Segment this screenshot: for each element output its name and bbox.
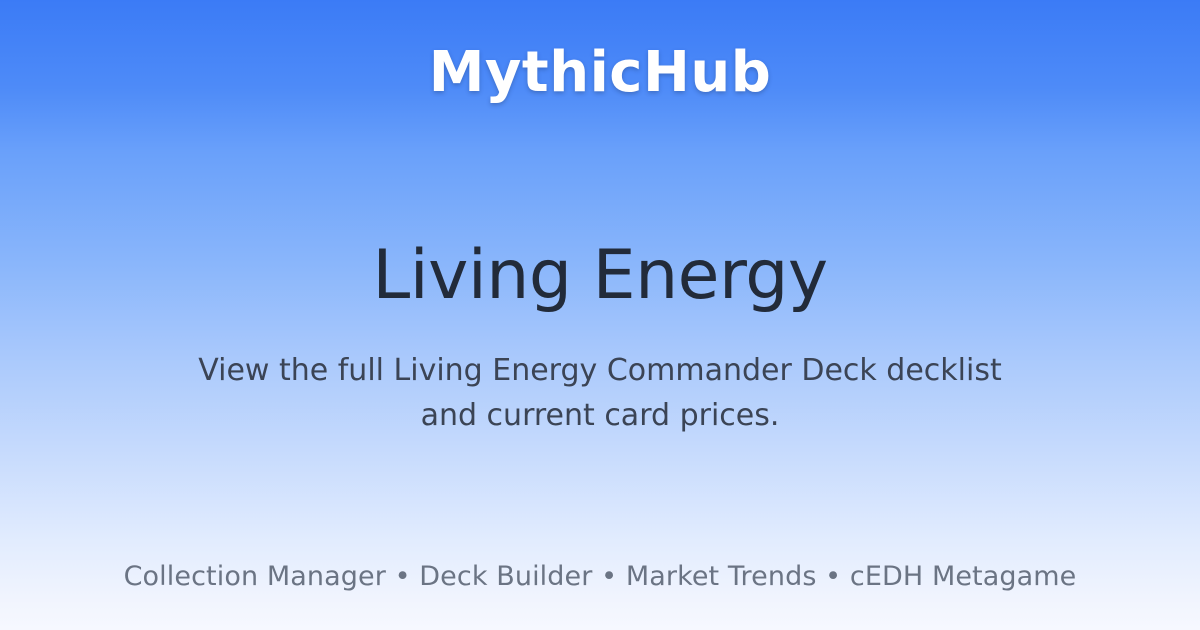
footer: Collection Manager • Deck Builder • Mark…	[0, 561, 1200, 592]
og-share-card: MythicHub Living Energy View the full Li…	[0, 0, 1200, 630]
deck-subtitle: View the full Living Energy Commander De…	[185, 348, 1015, 438]
footer-feature-links: Collection Manager • Deck Builder • Mark…	[124, 561, 1077, 592]
hero-content: Living Energy View the full Living Energ…	[0, 238, 1200, 438]
brand-header: MythicHub	[0, 42, 1200, 104]
deck-title: Living Energy	[372, 238, 827, 314]
brand-logo-mythichub[interactable]: MythicHub	[429, 42, 772, 104]
